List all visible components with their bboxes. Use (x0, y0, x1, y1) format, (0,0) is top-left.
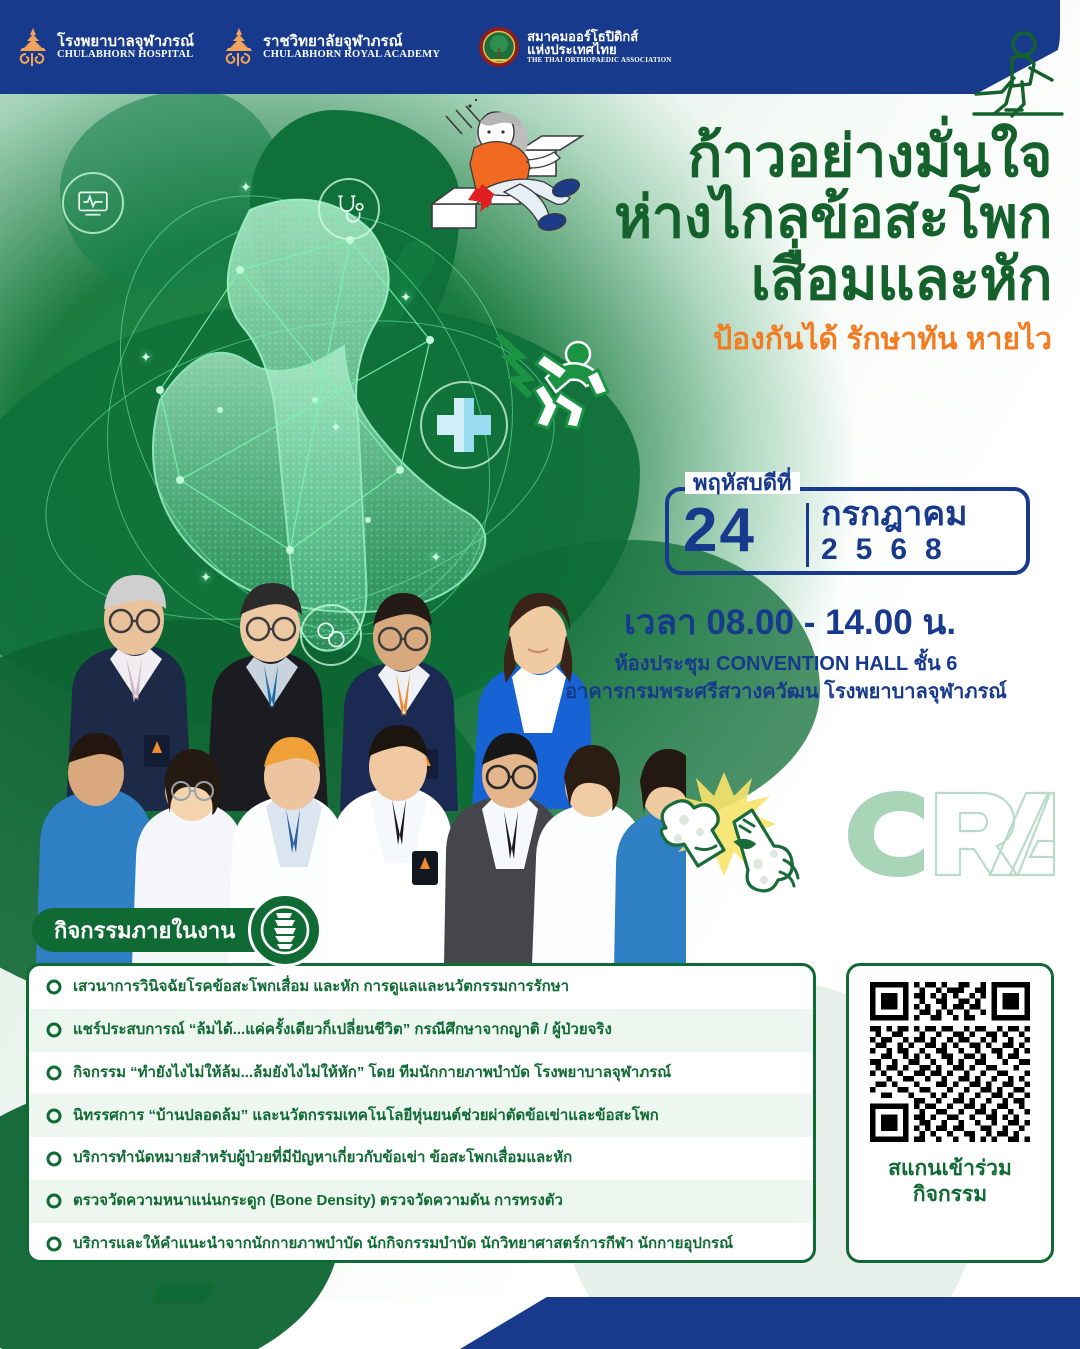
circle-bullet-icon (45, 978, 63, 996)
venue-line-2: อาคารกรมพระศรีสวางควัฒน โรงพยาบาลจุฬาภรณ… (516, 678, 1056, 706)
medical-cross-icon (437, 398, 489, 450)
list-item-text: กิจกรรม “ทำยังไงไม่ให้ล้ม...ล้มยังไงไม่ใ… (73, 1065, 671, 1082)
logo-thai-orthopaedic-association: สมาคมออร์โธปิดิกส์ แห่งประเทศไทย THE THA… (478, 26, 671, 68)
headline-line-1: ก้าวอย่างมั่นใจ (532, 126, 1052, 187)
list-item: แชร์ประสบการณ์ “ล้มได้...แค่ครั้งเดียวก็… (29, 1009, 813, 1052)
stumble-figure-icon (966, 26, 1070, 122)
logo-label-en: THE THAI ORTHOPAEDIC ASSOCIATION (527, 57, 671, 64)
circle-bullet-icon (45, 1150, 63, 1168)
list-item-text: นิทรรศการ “บ้านปลอดล้ม” และนวัตกรรมเทคโน… (73, 1108, 659, 1125)
headline-block: ก้าวอย่างมั่นใจ ห่างไกลข้อสะโพก เสื่อมแล… (532, 126, 1052, 363)
activities-badge-label: กิจกรรมภายในงาน (54, 913, 235, 948)
list-item: บริการทำนัดหมายสำหรับผู้ป่วยที่มีปัญหาเก… (29, 1137, 813, 1180)
spine-icon (248, 893, 322, 967)
headline-tagline: ป้องกันได้ รักษาทัน หายไว (532, 316, 1052, 363)
ecg-monitor-icon (62, 172, 124, 234)
logo-label-en: CHULABHORN HOSPITAL (57, 49, 194, 60)
headline-line-3: เสื่อมและหัก (532, 249, 1052, 310)
circle-bullet-icon (45, 1192, 63, 1210)
header-logos: โรงพยาบาลจุฬาภรณ์ CHULABHORN HOSPITAL รา… (0, 0, 672, 94)
list-item-text: เสวนาการวินิจฉัยโรคข้อสะโพกเสื่อม และหัก… (73, 979, 569, 996)
stethoscope-icon (318, 178, 380, 240)
footer-bg-right (460, 1297, 1080, 1349)
event-venue-block: ห้องประชุม CONVENTION HALL ชั้น 6 อาคารก… (516, 650, 1056, 706)
circle-bullet-icon (45, 1021, 63, 1039)
list-item: กิจกรรม “ทำยังไงไม่ให้ล้ม...ล้มยังไงไม่ใ… (29, 1052, 813, 1095)
qr-caption-line-1: สแกนเข้าร่วม (888, 1156, 1012, 1182)
logo-label-th-line2: แห่งประเทศไทย (527, 43, 671, 57)
headline-line-2: ห่างไกลข้อสะโพก (532, 187, 1052, 248)
logo-label-th: โรงพยาบาลจุฬาภรณ์ (57, 34, 194, 50)
logo-chulabhorn-royal-academy: ราชวิทยาลัยจุฬาภรณ์ CHULABHORN ROYAL ACA… (222, 27, 440, 67)
cra-watermark-logo (840, 785, 1058, 886)
qr-caption: สแกนเข้าร่วม กิจกรรม (888, 1156, 1012, 1209)
logo-label-en: CHULABHORN ROYAL ACADEMY (263, 49, 440, 60)
activities-list-card: เสวนาการวินิจฉัยโรคข้อสะโพกเสื่อม และหัก… (26, 963, 816, 1263)
list-item: นิทรรศการ “บ้านปลอดล้ม” และนวัตกรรมเทคโน… (29, 1094, 813, 1137)
date-divider (806, 503, 809, 567)
list-item-text: บริการและให้คำแนะนำจากนักกายภาพบำบัด นัก… (73, 1236, 733, 1253)
event-month: กรกฎาคม (821, 497, 968, 531)
list-item-text: แชร์ประสบการณ์ “ล้มได้...แค่ครั้งเดียวก็… (73, 1022, 612, 1039)
list-item: ตรวจวัดความหนาแน่นกระดูก (Bone Density) … (29, 1180, 813, 1223)
thai-orthopaedic-association-logo-icon (478, 26, 520, 68)
circle-bullet-icon (45, 1064, 63, 1082)
logo-chulabhorn-hospital: โรงพยาบาลจุฬาภรณ์ CHULABHORN HOSPITAL (16, 27, 194, 67)
broken-bone-mascot-icon (648, 768, 808, 918)
qr-caption-line-2: กิจกรรม (888, 1182, 1012, 1208)
event-day-number: 24 (683, 495, 756, 566)
venue-line-1: ห้องประชุม CONVENTION HALL ชั้น 6 (516, 650, 1056, 678)
event-date-box: พฤหัสบดีที่ 24 กรกฎาคม 2568 (665, 487, 1030, 575)
event-day-label: พฤหัสบดีที่ (685, 472, 800, 494)
chulabhorn-royal-academy-logo-icon (222, 27, 256, 67)
list-item-text: ตรวจวัดความหนาแน่นกระดูก (Bone Density) … (73, 1193, 563, 1210)
qr-code-icon[interactable] (870, 982, 1030, 1142)
circle-bullet-icon (45, 1235, 63, 1253)
event-year: 2568 (821, 535, 960, 565)
list-item: เสวนาการวินิจฉัยโรคข้อสะโพกเสื่อม และหัก… (29, 966, 813, 1009)
footer-bar (0, 1297, 1080, 1349)
list-item-text: บริการทำนัดหมายสำหรับผู้ป่วยที่มีปัญหาเก… (73, 1150, 572, 1167)
event-time: เวลา 08.00 - 14.00 น. (530, 604, 1050, 643)
logo-label-th: ราชวิทยาลัยจุฬาภรณ์ (263, 34, 440, 50)
list-item: บริการและให้คำแนะนำจากนักกายภาพบำบัด นัก… (29, 1223, 813, 1263)
event-time-block: เวลา 08.00 - 14.00 น. (530, 604, 1050, 643)
poster-root: ✦ ✦ ✦ ✦ ✦ ✦ (0, 0, 1080, 1349)
circle-bullet-icon (45, 1107, 63, 1125)
chulabhorn-hospital-logo-icon (16, 27, 50, 67)
qr-registration-panel[interactable]: สแกนเข้าร่วม กิจกรรม (846, 963, 1054, 1263)
